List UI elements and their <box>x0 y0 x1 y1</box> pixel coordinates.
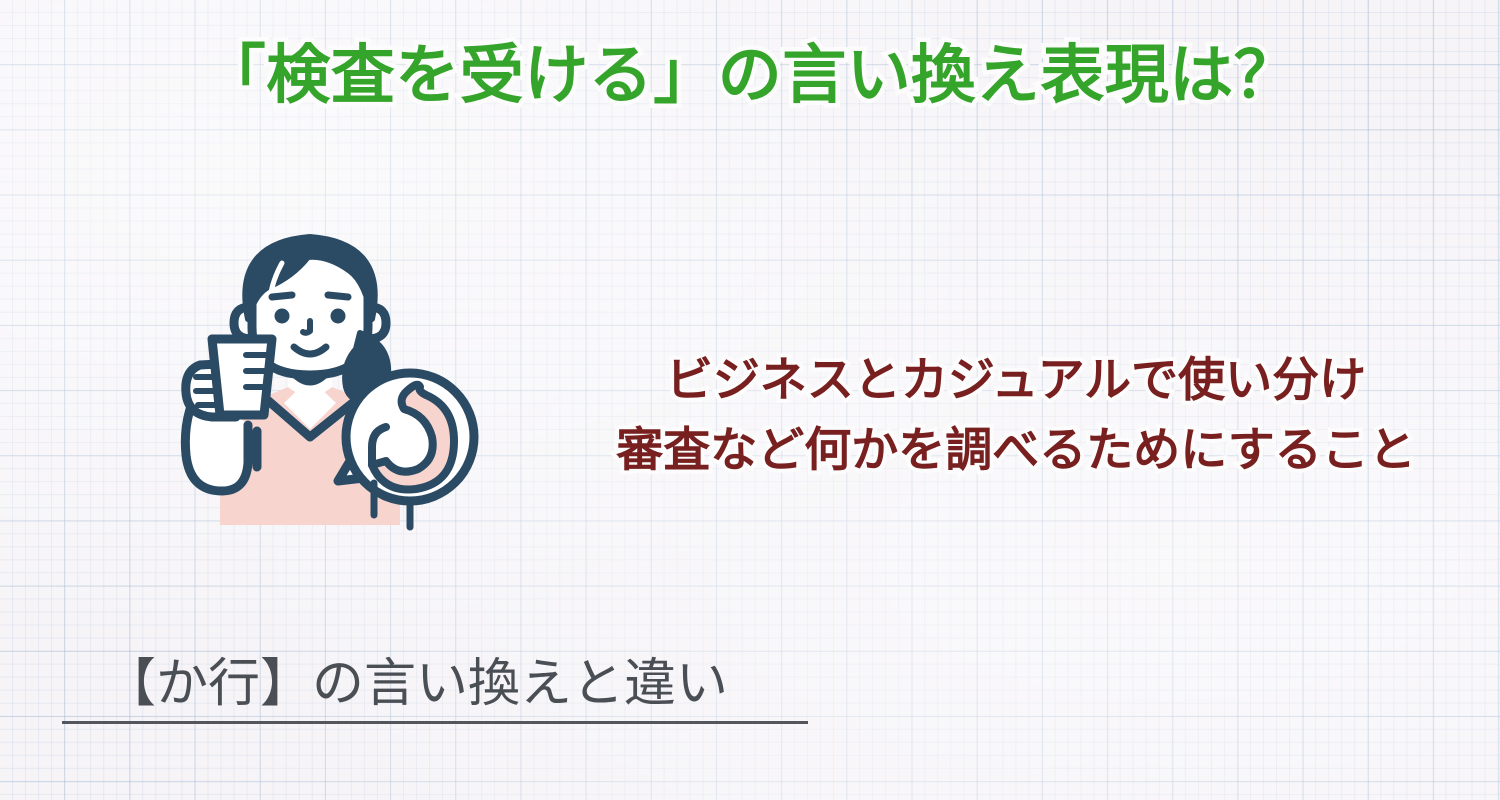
illustration-svg <box>160 215 480 535</box>
subtitle-line-2: 審査など何かを調べるためにすること <box>560 415 1472 485</box>
page-title: 「検査を受ける」の言い換え表現は？ <box>0 40 1500 110</box>
barium-cup <box>212 339 272 415</box>
eyebrow-right <box>328 295 348 297</box>
footer-block: 【か行】の言い換えと違い <box>62 652 808 724</box>
thumbnail-canvas: 「検査を受ける」の言い換え表現は？ <box>0 0 1500 800</box>
illustration-woman-checkup <box>160 215 480 535</box>
category-label: 【か行】の言い換えと違い <box>62 652 808 717</box>
subtitle-block: ビジネスとカジュアルで使い分け 審査など何かを調べるためにすること <box>560 345 1472 484</box>
eye-left <box>275 309 290 324</box>
eye-right <box>331 309 346 324</box>
footer-underline <box>62 721 808 724</box>
eyebrow-left <box>272 295 292 297</box>
subtitle-line-1: ビジネスとカジュアルで使い分け <box>560 345 1472 415</box>
